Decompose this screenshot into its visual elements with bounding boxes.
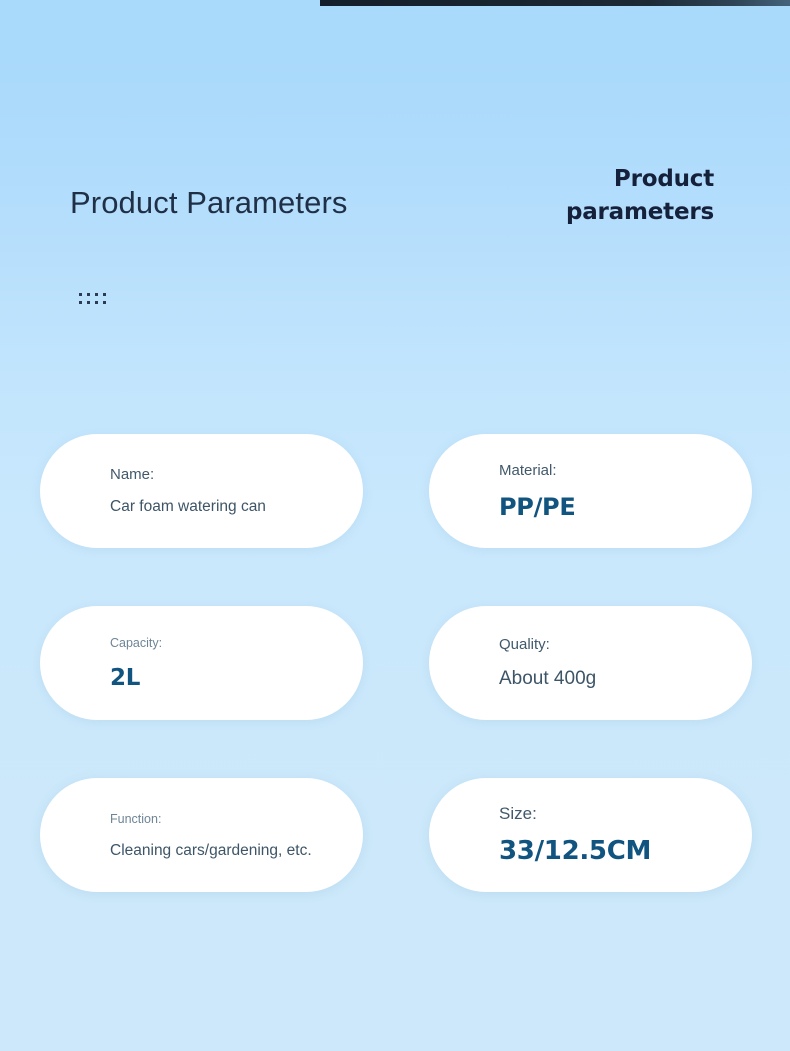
parameter-card-material: Material: PP/PE (429, 434, 752, 548)
page-title: Product Parameters (70, 182, 347, 224)
dot-icon (79, 293, 82, 296)
parameter-card-grid: Name: Car foam watering can Material: PP… (40, 434, 752, 892)
parameter-value-capacity: 2L (110, 665, 339, 692)
script-heading: Product parameters (454, 163, 714, 229)
parameter-value-material: PP/PE (499, 493, 728, 521)
parameter-label-capacity: Capacity: (110, 634, 339, 652)
parameter-label-function: Function: (110, 810, 339, 828)
parameter-card-size: Size: 33/12.5CM (429, 778, 752, 892)
product-parameters-page: Product Parameters Product parameters Na… (0, 0, 790, 1051)
dot-icon (95, 301, 98, 304)
script-heading-line-1: Product (454, 163, 714, 196)
parameter-label-size: Size: (499, 805, 728, 823)
parameter-label-name: Name: (110, 466, 339, 484)
parameter-card-function: Function: Cleaning cars/gardening, etc. (40, 778, 363, 892)
parameter-label-material: Material: (499, 462, 728, 480)
dot-grid-decoration (79, 293, 106, 304)
parameter-card-quality: Quality: About 400g (429, 606, 752, 720)
dot-icon (103, 301, 106, 304)
parameter-value-size: 33/12.5CM (499, 836, 728, 866)
parameter-label-quality: Quality: (499, 636, 728, 654)
dot-icon (95, 293, 98, 296)
dot-icon (87, 301, 90, 304)
previous-image-sliver (320, 0, 790, 6)
parameter-card-capacity: Capacity: 2L (40, 606, 363, 720)
dot-icon (79, 301, 82, 304)
parameter-value-name: Car foam watering can (110, 497, 339, 517)
parameter-value-function: Cleaning cars/gardening, etc. (110, 841, 339, 861)
script-heading-line-2: parameters (454, 196, 714, 229)
dot-icon (103, 293, 106, 296)
dot-icon (87, 293, 90, 296)
parameter-card-name: Name: Car foam watering can (40, 434, 363, 548)
parameter-value-quality: About 400g (499, 667, 728, 691)
